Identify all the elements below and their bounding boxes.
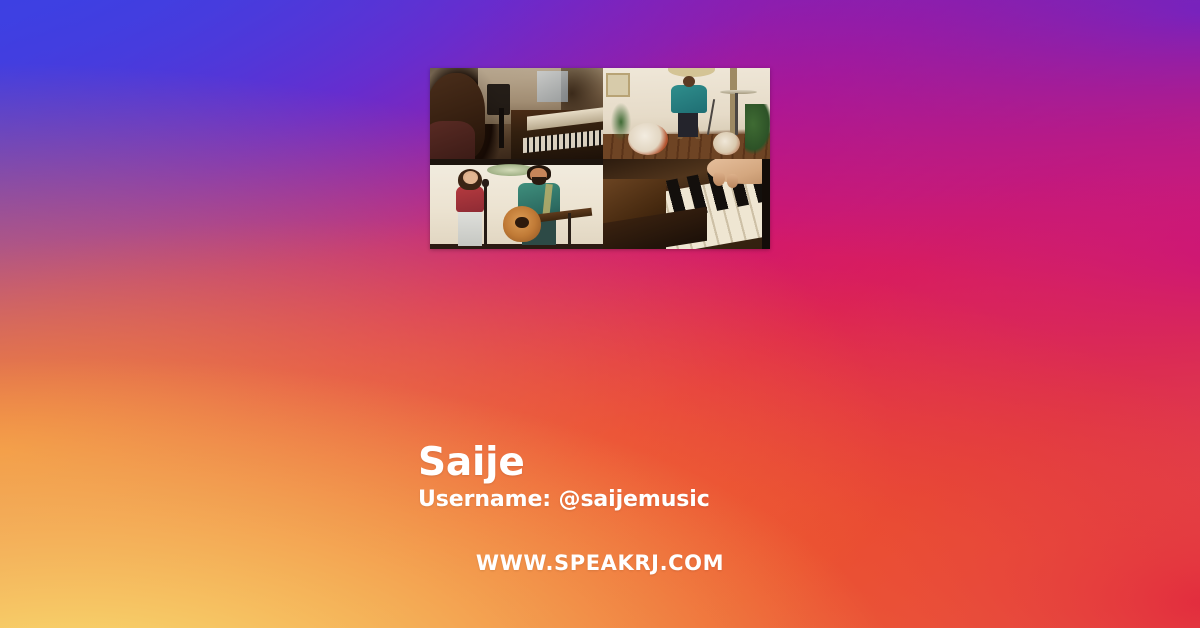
drummer-head-shape [683, 76, 695, 87]
letterbox-bottom-shape [430, 244, 603, 249]
plant-right-shape [745, 104, 770, 154]
microphone-shape [482, 179, 489, 187]
cymbal-shape [720, 90, 757, 95]
collage-tile-bottom-left[interactable] [430, 159, 603, 249]
drummer-torso-shape [671, 85, 706, 112]
cymbal-stand-shape [735, 93, 738, 135]
window-shape [537, 71, 568, 102]
bass-drum-shape [628, 123, 668, 156]
singer-jeans-shape [458, 210, 482, 246]
profile-share-card: Saije Username: @saijemusic WWW.SPEAKRJ.… [0, 0, 1200, 628]
profile-photo-collage[interactable] [430, 68, 770, 249]
singer-face-shape [465, 173, 476, 184]
small-window-shape [606, 73, 630, 97]
performer-body-shape [430, 121, 475, 159]
mic-stand-shape [707, 99, 716, 135]
page-title: Saije [418, 443, 898, 483]
profile-username: Username: @saijemusic [418, 488, 898, 512]
mic-stand-shape [484, 186, 487, 245]
profile-text-block: Saije Username: @saijemusic [418, 443, 898, 512]
guitar-soundhole-shape [515, 217, 529, 229]
pianist-finger-shape [727, 174, 739, 188]
second-stand-shape [568, 213, 571, 245]
collage-tile-top-right[interactable] [603, 68, 770, 159]
collage-tile-bottom-right[interactable] [603, 159, 770, 249]
guitarist-beard-shape [532, 177, 546, 185]
mic-stand-shape [499, 108, 503, 148]
drummer-legs-shape [678, 110, 698, 137]
photo-edge-shadow [762, 159, 770, 249]
floor-drum-shape [713, 132, 740, 156]
pianist-finger-shape [713, 172, 725, 186]
collage-tile-top-left[interactable] [430, 68, 603, 159]
site-url-label[interactable]: WWW.SPEAKRJ.COM [0, 551, 1200, 575]
